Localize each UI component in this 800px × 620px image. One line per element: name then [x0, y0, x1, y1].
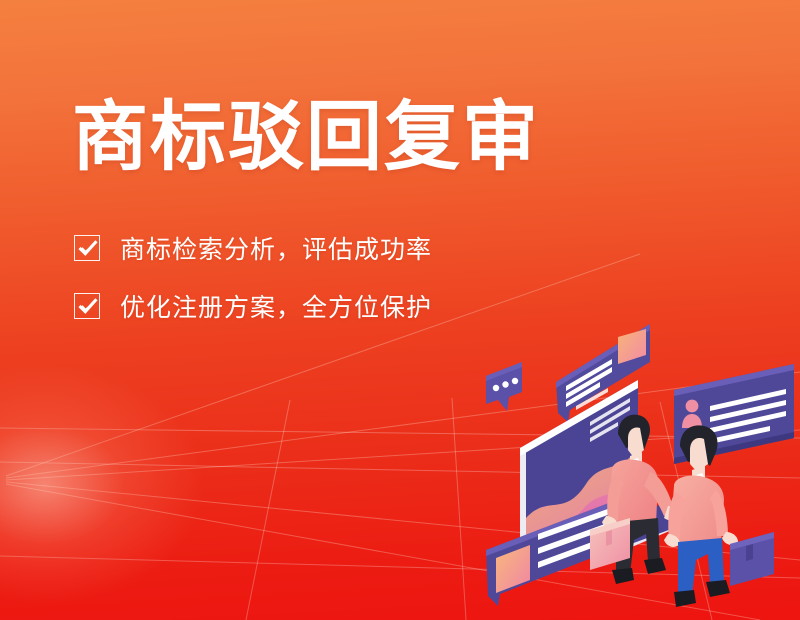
checkmark-icon: [74, 293, 100, 319]
list-item: 商标检索分析，评估成功率: [74, 232, 432, 264]
list-item-label: 商标检索分析，评估成功率: [120, 230, 432, 266]
chat-bubble-card: [486, 362, 522, 411]
page-title: 商标驳回复审: [72, 96, 540, 180]
isometric-business-consulting-illustration: [478, 318, 800, 620]
feature-list: 商标检索分析，评估成功率 优化注册方案，全方位保护: [74, 232, 432, 322]
list-item: 优化注册方案，全方位保护: [74, 290, 432, 322]
promo-banner: 商标驳回复审 商标检索分析，评估成功率 优化注册方案，全方位保护: [0, 0, 800, 620]
list-item-label: 优化注册方案，全方位保护: [120, 288, 432, 324]
checkmark-icon: [74, 235, 100, 261]
